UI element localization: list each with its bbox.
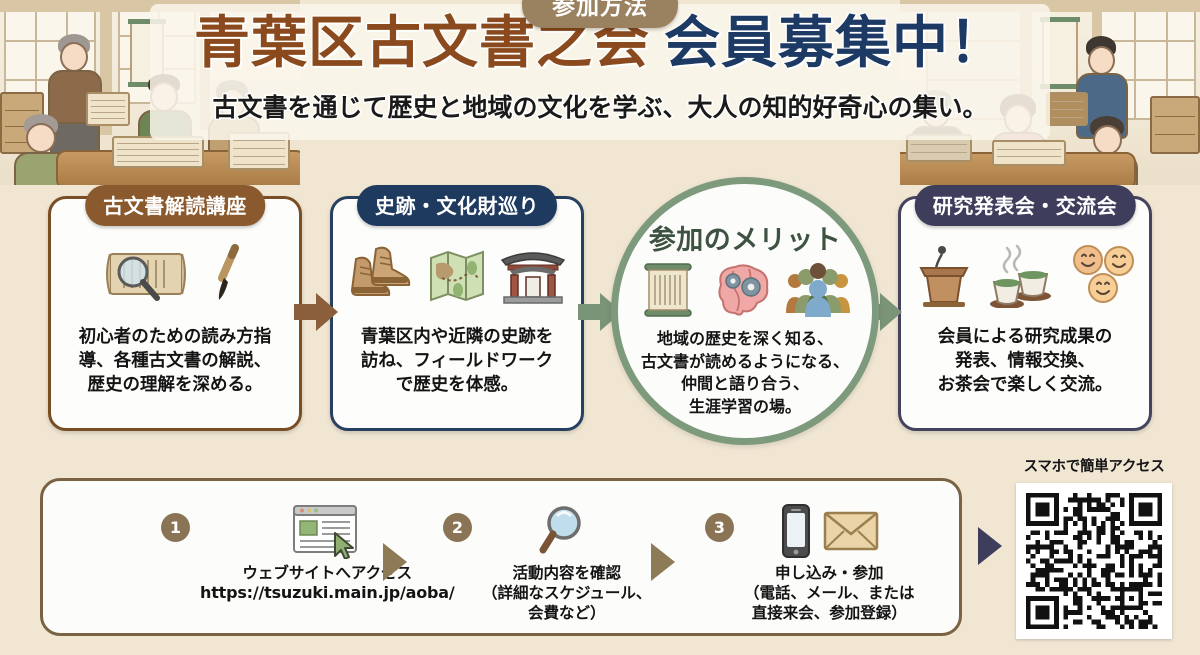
head — [1088, 46, 1115, 75]
card-kenkyu-badge: 研究発表会・交流会 — [915, 185, 1136, 226]
magnifier-icon — [539, 503, 595, 559]
qr-code[interactable] — [1026, 493, 1162, 629]
ceiling-beam — [900, 0, 1200, 12]
card-kaidoku[interactable]: 古文書解読講座 — [48, 196, 302, 431]
browser-window-cursor-icon — [291, 503, 363, 559]
open-book — [86, 92, 130, 126]
smartphone-icon — [779, 503, 813, 559]
qr-caption: スマホで簡単アクセス — [1008, 455, 1180, 476]
join-step-1-url[interactable]: https://tsuzuki.main.jp/aoba/ — [200, 583, 455, 602]
document-sheet — [992, 140, 1066, 166]
brain-gears-icon — [709, 261, 773, 319]
podium-icon — [913, 242, 975, 308]
benefits-text: 地域の歴史を深く知る、 古文書が読めるようになる、 仲間と語り合う、 生涯学習の… — [628, 328, 862, 419]
hanging-scroll — [1042, 20, 1078, 86]
head — [218, 88, 246, 118]
card-kenkyu[interactable]: 研究発表会・交流会 — [898, 196, 1152, 431]
card-shiseki-icons — [333, 233, 581, 317]
head — [60, 42, 88, 72]
join-step-3-number: 3 — [705, 513, 734, 542]
card-shiseki[interactable]: 史跡・文化財巡り — [330, 196, 584, 431]
card-kaidoku-text: 初心者のための読み方指 導、各種古文書の解説、 歴史の理解を深める。 — [59, 325, 291, 397]
join-step-3-label: 申し込み・参加 （電話、メール、または 直接来会、参加登録） — [744, 563, 915, 623]
qr-pointer-arrow — [978, 527, 1002, 565]
join-step-1-number: 1 — [161, 513, 190, 542]
join-step-3-icons — [779, 503, 879, 559]
hiking-boots-icon — [348, 243, 414, 307]
smiley-faces-icon — [1071, 242, 1137, 308]
folded-map-icon — [428, 246, 486, 304]
card-shiseki-badge: 史跡・文化財巡り — [357, 185, 557, 226]
join-step-1[interactable]: 1 — [161, 503, 455, 602]
card-kaidoku-icons — [51, 233, 299, 317]
envelope-icon — [823, 509, 879, 553]
head — [922, 98, 950, 128]
benefits-icons — [618, 256, 872, 324]
document-sheet — [228, 132, 290, 170]
join-step-2[interactable]: 2 活動内容を確認 （詳細なスケジュール、 会費など） — [443, 503, 651, 623]
benefits-title: 参加のメリット — [618, 218, 872, 257]
wall-post — [200, 0, 210, 130]
card-kenkyu-text: 会員による研究成果の 発表、情報交換、 お茶会で楽しく交流。 — [909, 325, 1141, 397]
head — [26, 123, 56, 153]
join-step-2-label: 活動内容を確認 （詳細なスケジュール、 会費など） — [482, 563, 651, 623]
unrolled-document — [112, 136, 204, 168]
join-method-badge: 参加方法 — [522, 0, 678, 28]
join-step-separator-1 — [383, 543, 407, 581]
qr-frame[interactable] — [1016, 483, 1172, 639]
temple-gate-icon — [500, 244, 566, 306]
scroll-magnifier-icon — [102, 242, 194, 308]
head — [150, 82, 178, 112]
ceiling-beam — [0, 0, 300, 12]
calligraphy-brush-icon — [208, 242, 248, 308]
background-illustration-left — [0, 0, 300, 185]
card-kaidoku-badge: 古文書解読講座 — [85, 185, 265, 226]
wooden-cabinet — [1150, 96, 1200, 154]
flow-arrow-1 — [292, 288, 340, 340]
join-step-3[interactable]: 3 — [705, 503, 915, 623]
card-kenkyu-icons — [901, 233, 1149, 317]
old-scroll-icon — [639, 260, 697, 320]
join-method-panel: 1 — [40, 478, 962, 636]
benefits-circle: 参加のメリット — [611, 177, 879, 445]
tea-cups-icon — [989, 242, 1057, 308]
head — [1004, 104, 1032, 134]
book-stack — [906, 134, 972, 162]
join-step-2-number: 2 — [443, 513, 472, 542]
card-shiseki-text: 青葉区内や近隣の史跡を 訪ね、フィールドワーク で歴史を体感。 — [341, 325, 573, 397]
join-step-1-icons — [291, 503, 363, 559]
people-group-icon — [785, 261, 851, 319]
join-step-2-icons — [539, 503, 595, 559]
poster-canvas: 青葉区古文書之会会員募集中！ 古文書を通じて歴史と地域の文化を学ぶ、大人の知的好… — [0, 0, 1200, 655]
feature-card-row: 古文書解読講座 — [0, 188, 1200, 438]
head — [1093, 125, 1122, 155]
background-illustration-right — [900, 0, 1200, 185]
join-step-separator-2 — [651, 543, 675, 581]
qr-block: スマホで簡単アクセス — [1008, 455, 1180, 639]
open-book — [1046, 92, 1088, 126]
